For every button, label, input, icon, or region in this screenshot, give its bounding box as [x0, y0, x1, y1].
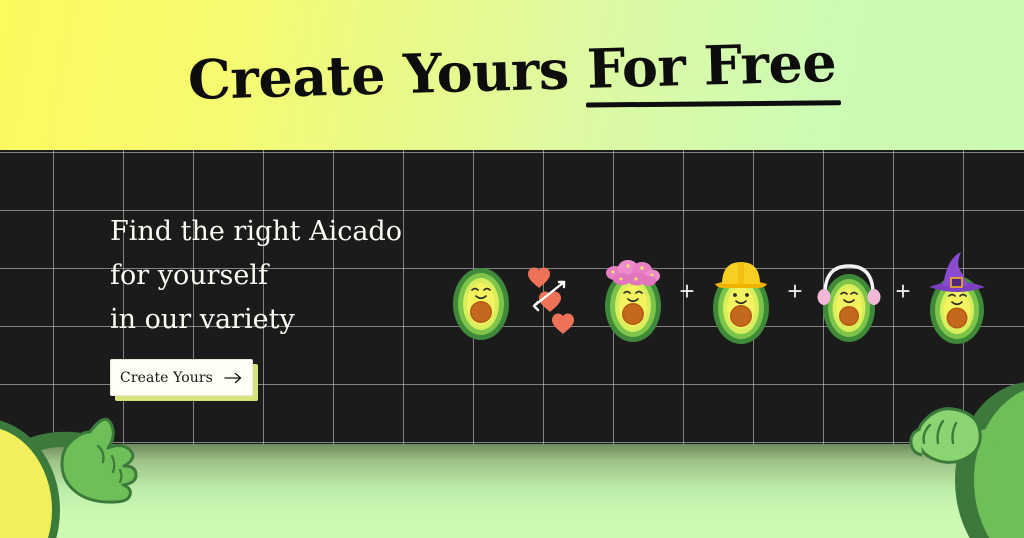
- fist-icon: [911, 409, 980, 463]
- separator-plus-3: +: [885, 278, 921, 304]
- avocado-variety-row: + +: [445, 236, 1005, 346]
- big-avocado-fist: [896, 355, 1024, 538]
- promo-line-3: in our variety: [110, 298, 402, 342]
- ground-strip: [0, 444, 1024, 538]
- flower-crown-avocado: [597, 246, 669, 346]
- open-hand-icon: [62, 419, 136, 502]
- headphones-avocado: [813, 246, 885, 346]
- love-hearts-with-arrow: [525, 246, 589, 336]
- avocado-item-witch-hat[interactable]: [921, 236, 993, 346]
- hard-hat-avocado: [705, 246, 777, 346]
- page-title: Create Yours For Free: [0, 30, 1024, 113]
- hero-top-band: Create Yours For Free: [0, 0, 1024, 150]
- avocado-item-hard-hat[interactable]: [705, 236, 777, 346]
- right-corner-avocado-svg: [896, 355, 1024, 538]
- hero-stage: Create Yours For Free Find the right Aic…: [0, 0, 1024, 538]
- separator-plus-1: +: [669, 278, 705, 304]
- big-avocado-open-hand: [0, 360, 142, 538]
- avocado-item-headphones[interactable]: [813, 236, 885, 346]
- promo-line-1: Find the right Aicado: [110, 210, 402, 254]
- page-title-part1: Create Yours: [187, 37, 588, 112]
- hard-hat-accessory: [715, 262, 767, 288]
- promo-line-2: for yourself: [110, 254, 402, 298]
- promo-copy-block: Find the right Aicado for yourself in ou…: [110, 210, 402, 396]
- page-title-underlined: For Free: [586, 30, 837, 103]
- avocado-item-flower-crown[interactable]: [597, 236, 669, 346]
- left-corner-avocado-svg: [0, 360, 142, 538]
- witch-hat-accessory: [929, 252, 985, 292]
- separator-plus-2: +: [777, 278, 813, 304]
- witch-hat-avocado: [921, 246, 993, 346]
- arrow-right-icon: [224, 371, 243, 385]
- hearts-icon-group: [525, 246, 589, 336]
- plain-avocado: [445, 246, 517, 346]
- avocado-item-plain[interactable]: [445, 236, 517, 346]
